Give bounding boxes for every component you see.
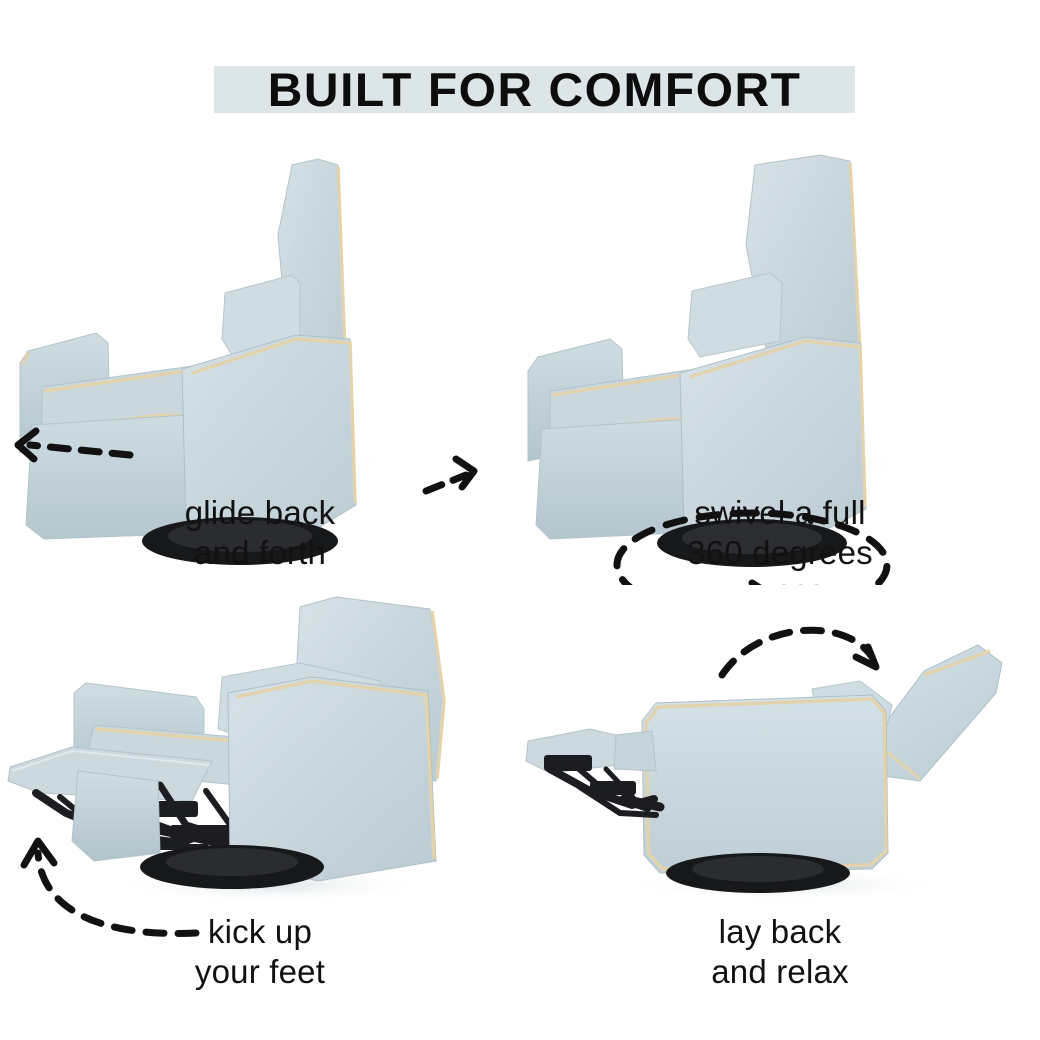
swivel-base-inner [692, 856, 824, 882]
caption-recline-line-1: lay back [520, 912, 1040, 952]
feature-panel-footrest: kick up your feet [0, 585, 520, 1040]
caption-swivel: swivel a full 360 degrees [520, 493, 1040, 574]
recline-arrow-icon [722, 630, 876, 675]
feature-panel-swivel: 360° swivel a full 360 degrees [520, 125, 1040, 585]
caption-glide: glide back and forth [0, 493, 520, 574]
footrest-link-fabric [614, 731, 656, 771]
glide-arrow-right-icon [426, 459, 474, 491]
caption-glide-line-2: and forth [0, 533, 520, 573]
caption-recline: lay back and relax [520, 912, 1040, 993]
feature-panel-recline: lay back and relax [520, 585, 1040, 1040]
caption-swivel-line-1: swivel a full [520, 493, 1040, 533]
caption-footrest-line-2: your feet [0, 952, 520, 992]
infographic-page: BUILT FOR COMFORT [0, 0, 1040, 1040]
caption-glide-line-1: glide back [0, 493, 520, 533]
chair-arm-side-panel [642, 695, 888, 873]
caption-footrest: kick up your feet [0, 912, 520, 993]
caption-recline-line-2: and relax [520, 952, 1040, 992]
caption-swivel-line-2: 360 degrees [520, 533, 1040, 573]
chair-base-body [72, 771, 160, 861]
caption-footrest-line-1: kick up [0, 912, 520, 952]
page-title: BUILT FOR COMFORT [268, 66, 802, 113]
feature-panel-glide: glide back and forth [0, 125, 520, 585]
title-banner: BUILT FOR COMFORT [214, 66, 855, 113]
chair-backrest [872, 645, 1002, 781]
swivel-base-inner [166, 848, 298, 876]
